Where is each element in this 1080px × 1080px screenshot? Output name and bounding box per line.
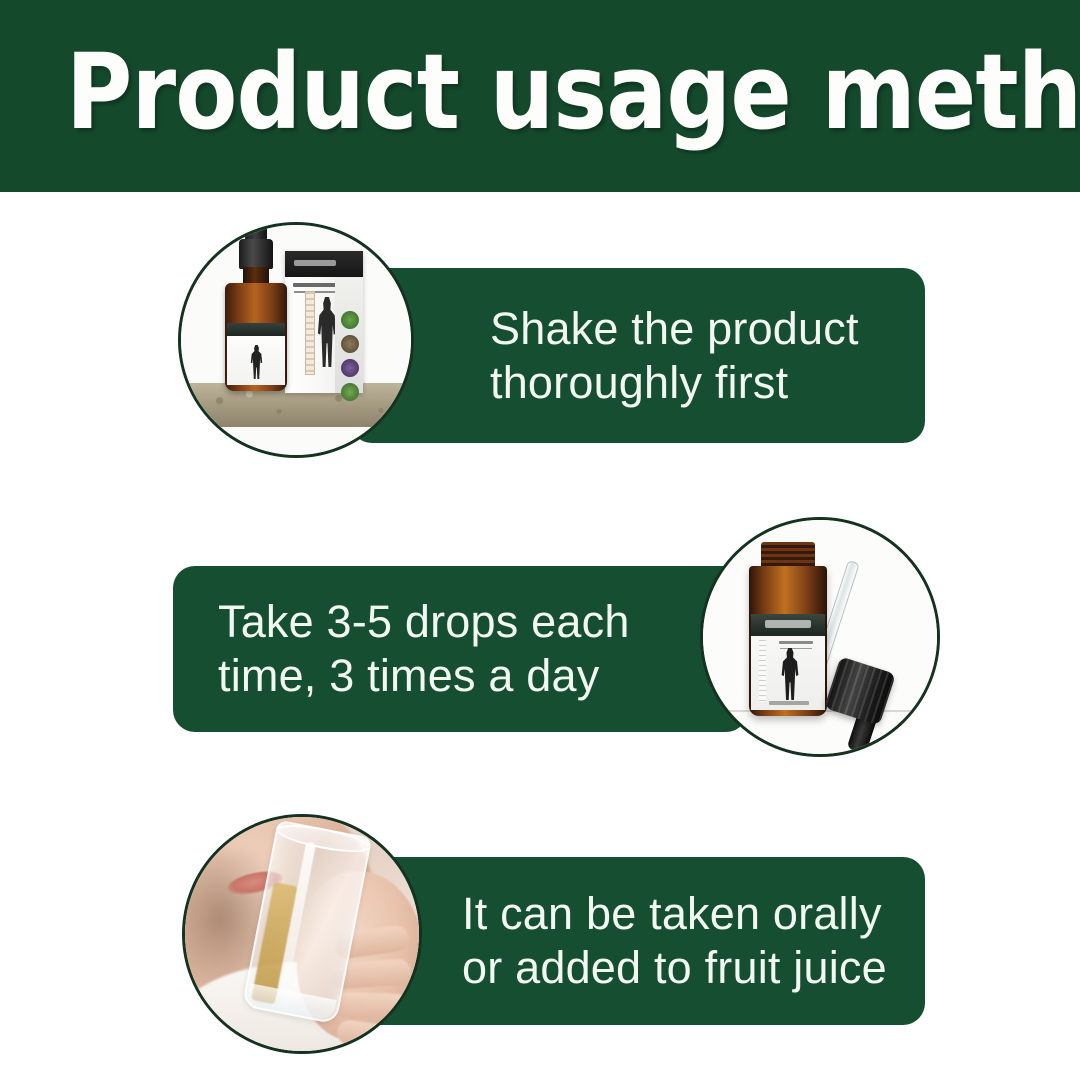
woman-drinking-glass-photo [185,817,419,1051]
step-3-panel: It can be taken orally or added to fruit… [350,857,925,1025]
herb-icon-3 [341,359,359,377]
bottle-label [227,323,285,385]
box-header-band [285,251,363,277]
label-human-silhouette-icon [249,345,264,379]
finger-3 [333,992,410,1021]
label-human-silhouette-icon [779,648,801,700]
step-2-image [700,517,940,757]
step-2-label: Take 3-5 drops each time, 3 times a day [218,595,630,703]
label-footer-text [769,701,809,705]
herb-icon-4 [341,383,359,401]
bottle-cap [239,239,273,269]
step-1-image [178,222,414,458]
page-title: Product usage method [66,36,901,148]
product-box [285,251,363,393]
label-subtitle-lines [779,641,813,644]
box-brand-logo [294,260,336,266]
label-brand-band [751,614,825,636]
box-title-lines [293,283,337,287]
box-ingredient-column [335,277,363,393]
steps-stage: Shake the product thoroughly first [0,192,1080,1080]
step-1-label: Shake the product thoroughly first [490,302,859,410]
brand-wordmark [765,620,811,628]
amber-bottle [225,283,287,391]
header-banner: Product usage method [0,0,1080,192]
bottle-label [751,614,825,710]
box-height-ruler [305,291,315,375]
product-bottle-and-box-on-stone-photo [181,225,411,455]
step-1-panel: Shake the product thoroughly first [350,268,925,443]
step-3-label: It can be taken orally or added to fruit… [462,887,887,995]
label-height-ruler [759,640,766,702]
herb-icon-2 [341,335,359,353]
herb-icon-1 [341,311,359,329]
open-bottle-with-dropper-photo [703,520,937,754]
step-3-image [182,814,422,1054]
step-2-panel: Take 3-5 drops each time, 3 times a day [173,566,748,732]
amber-bottle [749,566,827,716]
